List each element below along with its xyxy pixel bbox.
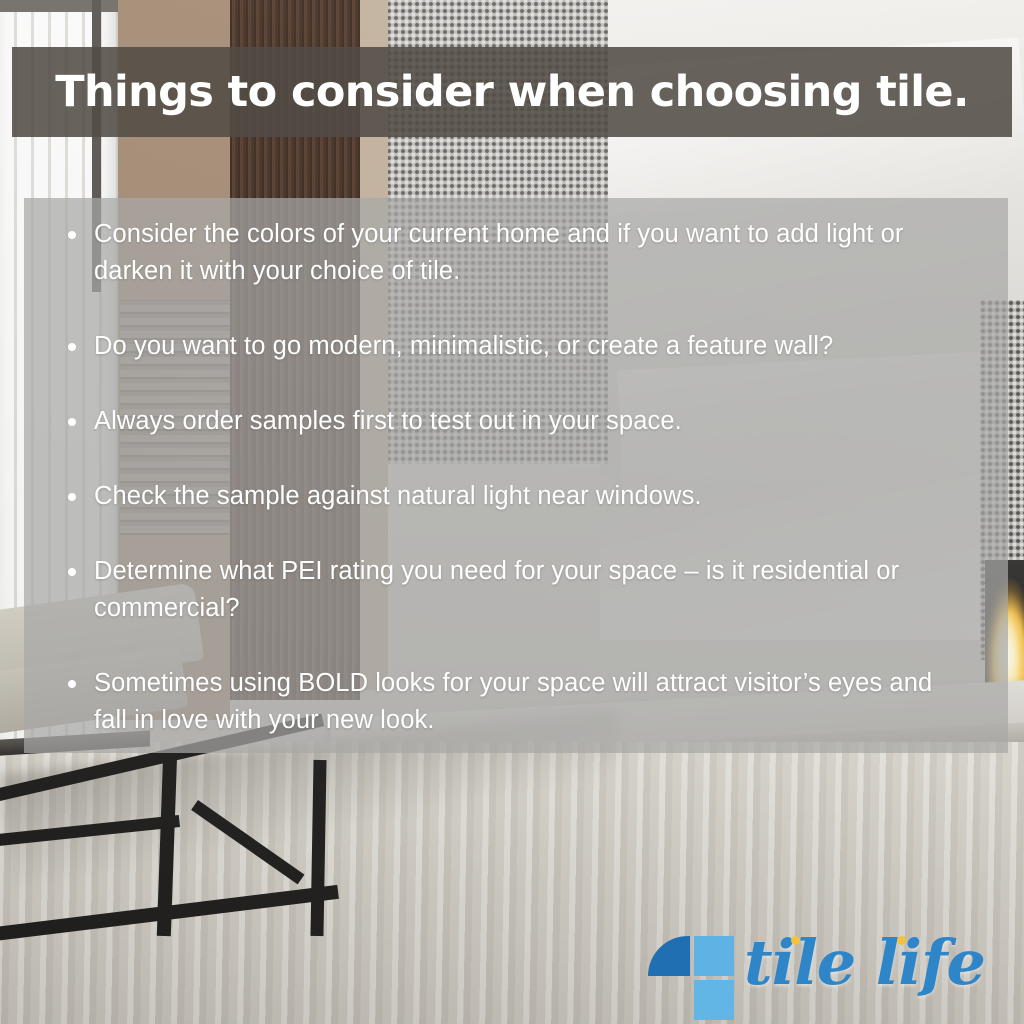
brand-logo: tile life	[648, 930, 1008, 1016]
list-item: Determine what PEI rating you need for y…	[64, 553, 964, 627]
logo-dot-over-i-first	[791, 936, 800, 945]
tile-squares-logo-icon	[648, 936, 740, 1010]
logo-wordmark: tile life	[744, 926, 985, 999]
tips-panel: Consider the colors of your current home…	[24, 198, 1008, 753]
poster-canvas: Things to consider when choosing tile. C…	[0, 0, 1024, 1024]
title-banner: Things to consider when choosing tile.	[12, 47, 1012, 137]
logo-square-bottom-left	[694, 980, 734, 1020]
list-item: Consider the colors of your current home…	[64, 216, 964, 290]
list-item: Do you want to go modern, minimalistic, …	[64, 328, 964, 365]
logo-quarter-circle-shape	[648, 936, 690, 976]
list-item: Sometimes using BOLD looks for your spac…	[64, 665, 964, 739]
page-title: Things to consider when choosing tile.	[55, 67, 969, 117]
logo-dot-over-i-second	[897, 936, 906, 945]
list-item: Check the sample against natural light n…	[64, 478, 964, 515]
logo-square-top-right	[694, 936, 734, 976]
list-item: Always order samples first to test out i…	[64, 403, 964, 440]
tips-list: Consider the colors of your current home…	[64, 206, 964, 739]
